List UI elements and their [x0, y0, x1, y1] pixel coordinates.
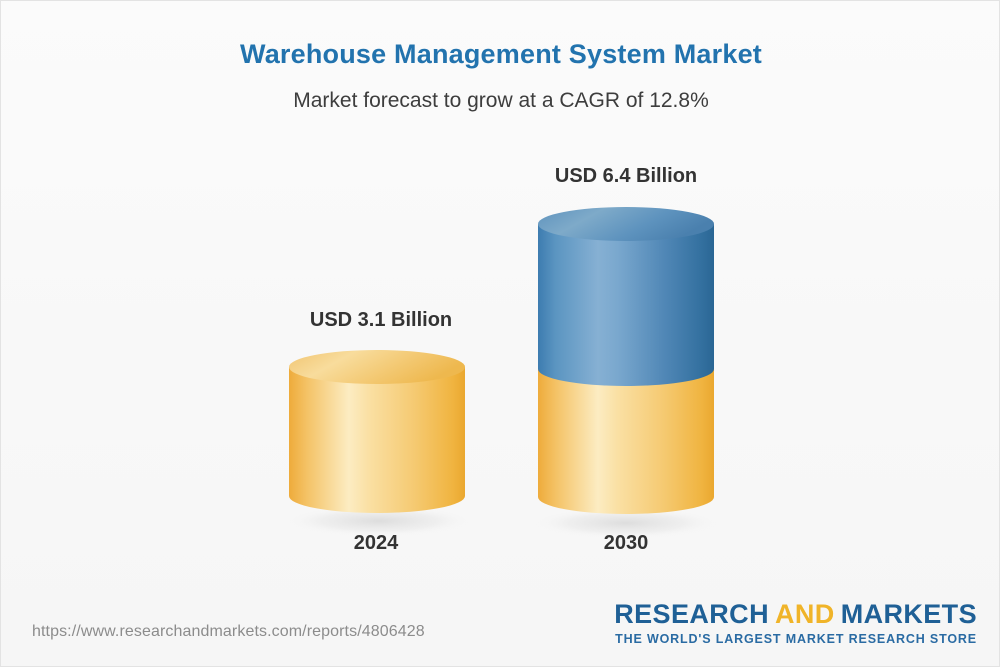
- brand-logo[interactable]: RESEARCHANDMARKETS THE WORLD'S LARGEST M…: [614, 601, 977, 647]
- bar-segment-blue-2030: [538, 224, 714, 386]
- value-label-2024: USD 3.1 Billion: [276, 309, 486, 332]
- category-label-2024: 2024: [276, 532, 476, 555]
- bar-top-2024: [289, 350, 465, 384]
- bar-cylinder-2024: [287, 349, 477, 539]
- source-url[interactable]: https://www.researchandmarkets.com/repor…: [32, 623, 425, 641]
- brand-word-markets: MARKETS: [841, 599, 977, 629]
- bar-segment-gold-2030: [538, 369, 714, 514]
- brand-logo-wordmark: RESEARCHANDMARKETS: [614, 601, 977, 629]
- bar-body-2024: [289, 367, 465, 513]
- brand-word-research: RESEARCH: [614, 599, 769, 629]
- category-label-2030: 2030: [526, 532, 726, 555]
- brand-tagline: THE WORLD'S LARGEST MARKET RESEARCH STOR…: [614, 632, 977, 647]
- infographic-canvas: Warehouse Management System Market Marke…: [0, 0, 1000, 667]
- bar-cylinder-2030: [536, 203, 726, 543]
- chart-plot-area: USD 3.1 Billion USD 6.4 Billion: [1, 1, 1000, 667]
- value-label-2030: USD 6.4 Billion: [521, 165, 731, 188]
- bar-top-2030: [538, 207, 714, 241]
- brand-word-and: AND: [775, 599, 835, 629]
